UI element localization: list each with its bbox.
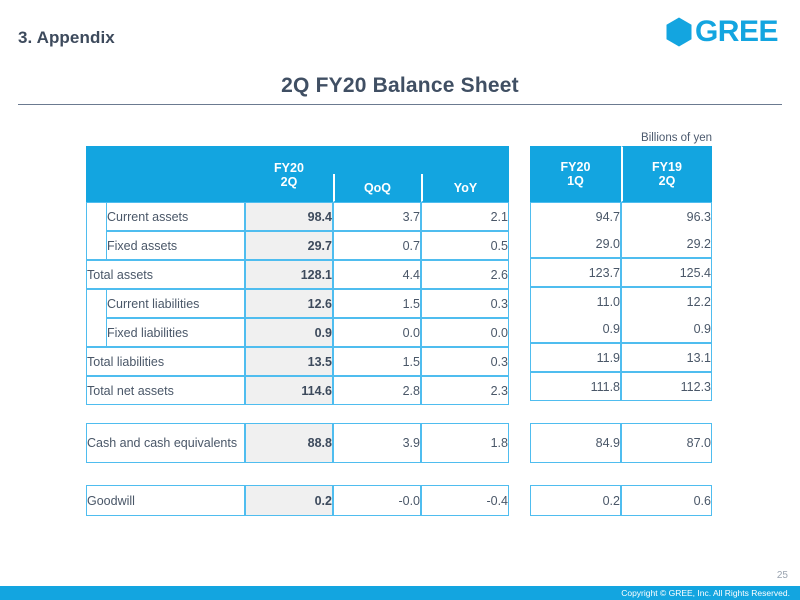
row-fy20-2q: 29.7 [245,231,333,260]
table-row: Fixed liabilities 0.9 0.0 0.0 [86,318,509,347]
table-row: 84.9 87.0 [530,423,712,463]
header-fy19-2q-line1: FY19 [623,160,711,174]
row-fy20-1q: 11.9 [530,343,621,372]
page-title: 2Q FY20 Balance Sheet [0,74,800,98]
row-label: Cash and cash equivalents [86,423,245,463]
header-fy19-2q: FY19 2Q [621,146,712,202]
table-row: Current liabilities 12.6 1.5 0.3 [86,289,509,318]
logo-wordmark: GREE [695,17,778,47]
row-fy20-2q: 0.9 [245,318,333,347]
row-yoy: 2.3 [421,376,509,405]
indent-spacer [86,318,106,347]
units-caption: Billions of yen [527,132,712,144]
row-fy20-1q: 111.8 [530,372,621,401]
row-fy19-2q: 13.1 [621,343,712,372]
hexagon-icon [666,17,692,47]
table-row: 94.7 96.3 [530,202,712,230]
header-qoq: QoQ [333,174,421,202]
row-fy19-2q: 112.3 [621,372,712,401]
row-qoq: 4.4 [333,260,421,289]
table-row: 11.0 12.2 [530,287,712,315]
row-fy20-1q: 29.0 [530,230,621,258]
header-fy20-1q: FY20 1Q [530,146,621,202]
row-label: Total assets [86,260,245,289]
indent-spacer [86,231,106,260]
table-header-row-1: FY20 2Q [86,146,509,174]
goodwill-table-right: 0.2 0.6 [530,485,712,516]
row-qoq: 3.9 [333,423,421,463]
header-qoq-spacer [333,146,421,174]
row-yoy: 2.6 [421,260,509,289]
row-label: Total net assets [86,376,245,405]
header-fy20-2q-line2: 2Q [246,175,332,189]
row-qoq: 1.5 [333,289,421,318]
table-row: 111.8 112.3 [530,372,712,401]
balance-sheet-table-right: FY20 1Q FY19 2Q 94.7 96.3 29.0 29.2 123.… [530,146,712,401]
balance-sheet-table-left: FY20 2Q QoQ YoY Current assets 98.4 3.7 … [86,146,509,405]
row-fy19-2q: 12.2 [621,287,712,315]
row-yoy: 0.0 [421,318,509,347]
row-yoy: 0.5 [421,231,509,260]
row-fy20-2q: 0.2 [245,485,333,516]
row-label: Total liabilities [86,347,245,376]
header-fy20-1q-line2: 1Q [531,174,620,188]
slide-header: 3. Appendix GREE [0,0,800,66]
row-label: Fixed liabilities [106,318,245,347]
row-fy20-1q: 11.0 [530,287,621,315]
header-fy20-2q-line1: FY20 [246,161,332,175]
table-row: Total liabilities 13.5 1.5 0.3 [86,347,509,376]
indent-spacer [86,202,106,231]
row-fy19-2q: 125.4 [621,258,712,287]
row-qoq: -0.0 [333,485,421,516]
footer-bar: Copyright © GREE, Inc. All Rights Reserv… [0,586,800,600]
table-row: Current assets 98.4 3.7 2.1 [86,202,509,231]
row-fy19-2q: 87.0 [621,423,712,463]
row-fy19-2q: 29.2 [621,230,712,258]
row-fy19-2q: 0.9 [621,315,712,343]
header-yoy: YoY [421,174,509,202]
table-row: Cash and cash equivalents 88.8 3.9 1.8 [86,423,509,463]
table-row: Total net assets 114.6 2.8 2.3 [86,376,509,405]
row-label: Goodwill [86,485,245,516]
cash-table-right: 84.9 87.0 [530,423,712,463]
row-qoq: 3.7 [333,202,421,231]
row-qoq: 0.0 [333,318,421,347]
row-fy19-2q: 0.6 [621,485,712,516]
page-number: 25 [777,570,788,581]
table-row: Total assets 128.1 4.4 2.6 [86,260,509,289]
row-fy20-1q: 123.7 [530,258,621,287]
title-divider [18,104,782,105]
header-fy20-2q: FY20 2Q [245,146,333,202]
row-label: Current liabilities [106,289,245,318]
indent-spacer [86,289,106,318]
header-blank-cell [86,146,245,174]
row-label: Fixed assets [106,231,245,260]
row-label: Current assets [106,202,245,231]
row-yoy: 0.3 [421,347,509,376]
gree-logo: GREE [666,17,778,47]
table-row: Goodwill 0.2 -0.0 -0.4 [86,485,509,516]
row-qoq: 0.7 [333,231,421,260]
row-fy20-1q: 84.9 [530,423,621,463]
row-yoy: 0.3 [421,289,509,318]
row-yoy: -0.4 [421,485,509,516]
table-row: 0.9 0.9 [530,315,712,343]
row-yoy: 2.1 [421,202,509,231]
row-fy20-2q: 128.1 [245,260,333,289]
table-row: 0.2 0.6 [530,485,712,516]
header-fy20-1q-line1: FY20 [531,160,620,174]
header-fy19-2q-line2: 2Q [623,174,711,188]
row-qoq: 1.5 [333,347,421,376]
copyright-text: Copyright © GREE, Inc. All Rights Reserv… [621,587,790,599]
table-row: 123.7 125.4 [530,258,712,287]
row-fy19-2q: 96.3 [621,202,712,230]
row-yoy: 1.8 [421,423,509,463]
table-header-row: FY20 1Q FY19 2Q [530,146,712,202]
header-yoy-spacer [421,146,509,174]
row-fy20-2q: 88.8 [245,423,333,463]
section-label: 3. Appendix [18,28,115,48]
table-row: 29.0 29.2 [530,230,712,258]
header-blank-cell-2 [86,174,245,202]
row-fy20-2q: 114.6 [245,376,333,405]
row-fy20-1q: 0.9 [530,315,621,343]
cash-table-left: Cash and cash equivalents 88.8 3.9 1.8 [86,423,509,463]
row-fy20-2q: 13.5 [245,347,333,376]
table-row: 11.9 13.1 [530,343,712,372]
row-fy20-2q: 98.4 [245,202,333,231]
goodwill-table-left: Goodwill 0.2 -0.0 -0.4 [86,485,509,516]
table-row: Fixed assets 29.7 0.7 0.5 [86,231,509,260]
row-qoq: 2.8 [333,376,421,405]
row-fy20-1q: 0.2 [530,485,621,516]
row-fy20-2q: 12.6 [245,289,333,318]
row-fy20-1q: 94.7 [530,202,621,230]
